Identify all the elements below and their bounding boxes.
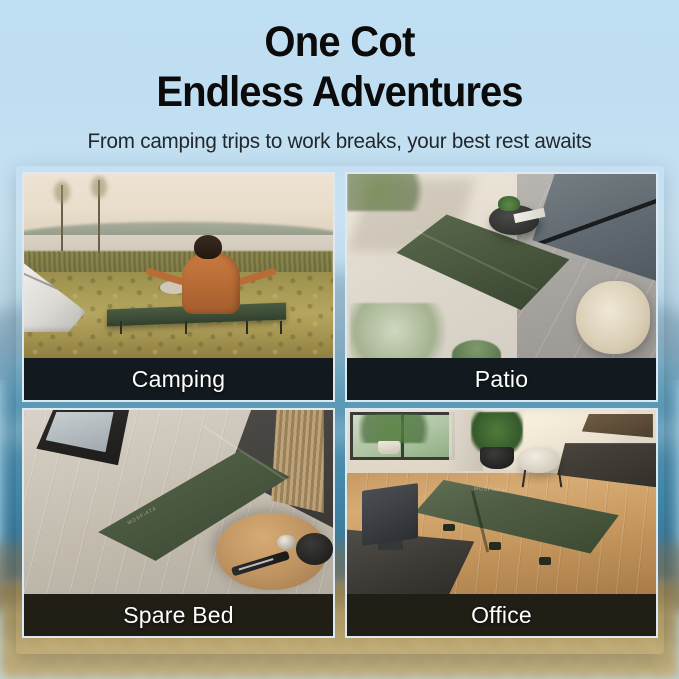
office-photo: MOSFiATA [347, 410, 656, 594]
office-stool [517, 447, 560, 473]
camping-tree [98, 180, 100, 254]
office-stool-legs [522, 470, 563, 488]
patio-photo [347, 174, 656, 358]
patio-rattan-chair [576, 281, 650, 355]
camping-cot-leg [246, 321, 248, 334]
camping-tree [61, 185, 63, 251]
office-window-plant [359, 414, 433, 443]
subheadline: From camping trips to work breaks, your … [14, 129, 666, 154]
office-sill-pot [378, 441, 400, 454]
spare-bed-photo: MOSFiATA [24, 410, 333, 594]
poster-header: One Cot Endless Adventures From camping … [0, 0, 679, 168]
scene-card-patio[interactable]: Patio [345, 172, 658, 402]
product-infographic-poster: One Cot Endless Adventures From camping … [0, 0, 679, 679]
patio-foliage [347, 174, 427, 211]
scene-caption-patio: Patio [347, 358, 656, 400]
scene-caption-camping: Camping [24, 358, 333, 400]
scene-card-office[interactable]: MOSFiATA Office [345, 408, 658, 638]
patio-foliage [350, 303, 449, 358]
spare-bed-knob [277, 535, 296, 550]
camping-cot-leg [280, 321, 282, 334]
headline-line-2: Endless Adventures [24, 68, 655, 118]
patio-table-plant [498, 196, 520, 211]
headline-line-1: One Cot [24, 18, 655, 68]
camping-person-body [182, 253, 241, 314]
office-plant-pot [480, 447, 514, 469]
scene-card-spare-bed[interactable]: MOSFiATA Spare Bed [22, 408, 335, 638]
camping-cot-leg [185, 321, 187, 334]
spare-bed-wood-slats [271, 410, 324, 513]
office-cot-foot [489, 542, 501, 549]
office-cot-foot [539, 557, 551, 564]
office-monitor [362, 483, 418, 546]
scene-card-camping[interactable]: Camping [22, 172, 335, 402]
camping-person-head [194, 235, 222, 259]
title-block: One Cot Endless Adventures From camping … [0, 0, 679, 154]
scene-caption-office: Office [347, 594, 656, 636]
spare-bed-pot [296, 533, 333, 564]
patio-leaf [452, 340, 501, 358]
scene-grid: Camping Patio [22, 172, 658, 648]
scene-caption-spare-bed: Spare Bed [24, 594, 333, 636]
camping-cot-leg [120, 321, 122, 334]
camping-photo [24, 174, 333, 358]
office-cot-foot [443, 524, 455, 531]
